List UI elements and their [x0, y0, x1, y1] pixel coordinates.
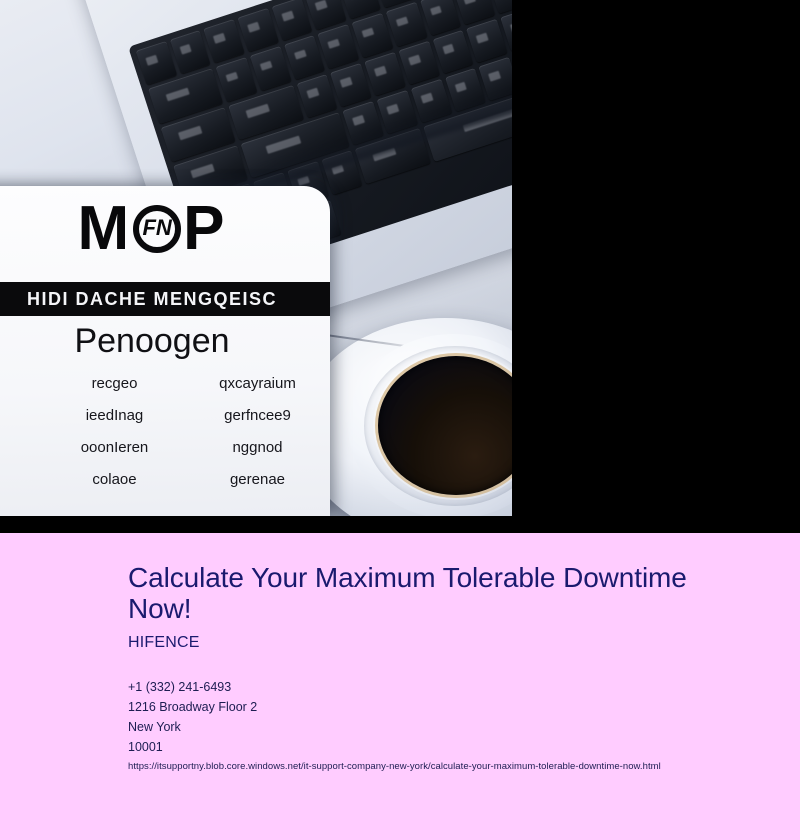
key: [237, 8, 278, 52]
card-item: gerenae: [195, 470, 320, 490]
key: [204, 19, 245, 63]
address-city: New York: [128, 717, 257, 737]
key: [216, 57, 257, 101]
card-item: gerfncee9: [195, 406, 320, 426]
key: [284, 35, 325, 79]
brand-name: HIFENCE: [128, 633, 200, 653]
card-item: ooonIeren: [52, 438, 177, 458]
card-title-right: P: [183, 194, 226, 263]
key: [296, 74, 337, 118]
address-zip: 10001: [128, 737, 257, 757]
key: [170, 30, 211, 74]
key: [271, 0, 312, 41]
card-item: qxcayraium: [195, 374, 320, 394]
key: [330, 63, 371, 107]
address-line-1: 1216 Broadway Floor 2: [128, 697, 257, 717]
card-title-ring-label: FN: [131, 211, 183, 245]
key: [398, 41, 439, 85]
card-item: recgeo: [52, 374, 177, 394]
key: [386, 2, 427, 46]
key: [250, 46, 291, 90]
card-title-ring-icon: FN: [131, 203, 183, 255]
key: [352, 13, 393, 57]
card-title-left: M: [77, 194, 131, 263]
card-item-list: recgeo qxcayraium ieedInag gerfncee9 ooo…: [52, 374, 320, 490]
card-strip: HIDI DACHE MENGQEISC: [0, 282, 330, 316]
page-title: Calculate Your Maximum Tolerable Downtim…: [128, 562, 688, 624]
key: [318, 24, 359, 68]
page-root: MFNP HIDI DACHE MENGQEISC Penoogen recge…: [0, 0, 800, 840]
hero-photo: MFNP HIDI DACHE MENGQEISC Penoogen recge…: [0, 0, 512, 516]
card-item: ieedInag: [52, 406, 177, 426]
document-card: MFNP HIDI DACHE MENGQEISC Penoogen recge…: [0, 186, 330, 516]
card-item: nggnod: [195, 438, 320, 458]
contact-block: +1 (332) 241-6493 1216 Broadway Floor 2 …: [128, 677, 257, 757]
card-item: colaoe: [52, 470, 177, 490]
phone-number[interactable]: +1 (332) 241-6493: [128, 677, 257, 697]
card-subtitle: Penoogen: [0, 320, 330, 362]
key: [432, 29, 473, 73]
key: [364, 52, 405, 96]
key: [466, 18, 507, 62]
card-title: MFNP: [0, 192, 330, 266]
source-url[interactable]: https://itsupportny.blob.core.windows.ne…: [128, 760, 661, 773]
key: [420, 0, 461, 35]
coffee-cup: [300, 298, 512, 516]
hero-band: MFNP HIDI DACHE MENGQEISC Penoogen recge…: [0, 0, 800, 533]
key: [136, 41, 177, 85]
